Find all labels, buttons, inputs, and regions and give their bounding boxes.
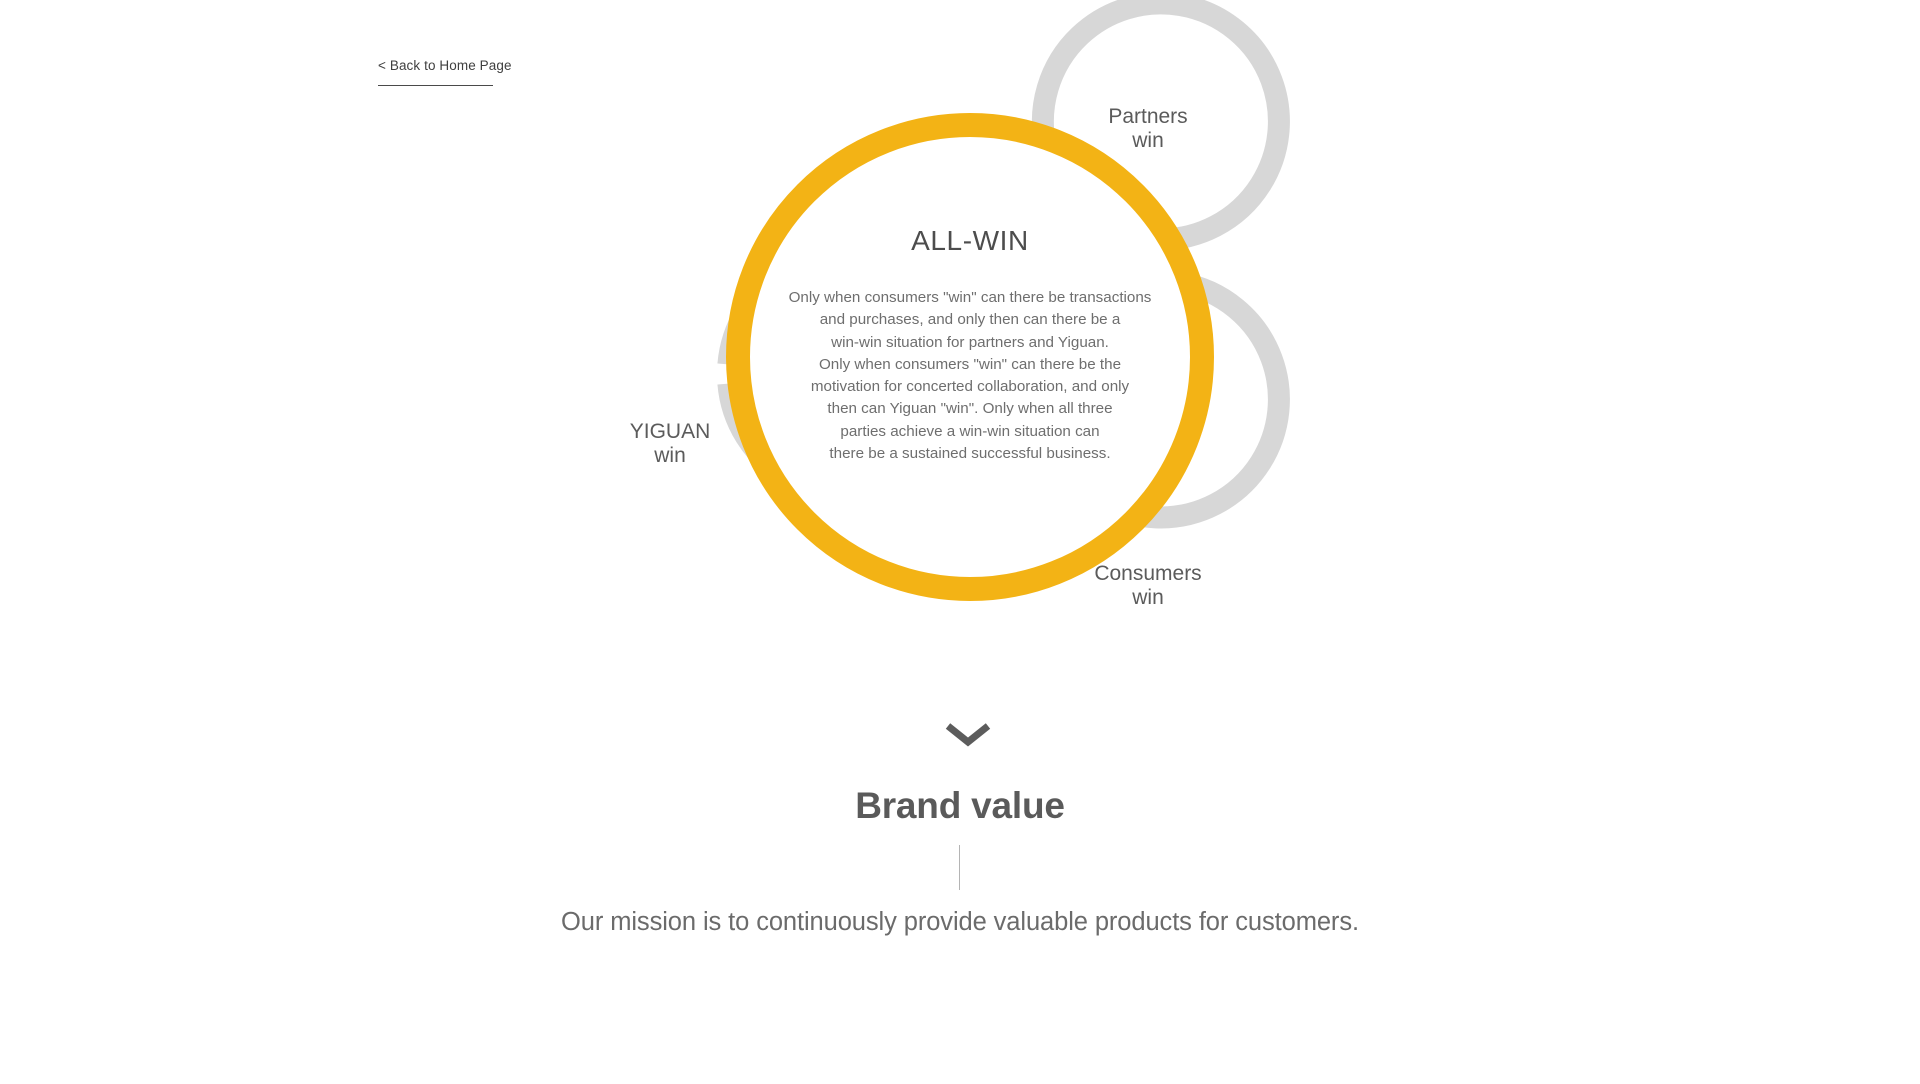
chevron-down-icon <box>942 718 994 750</box>
diagram-svg <box>0 0 1920 720</box>
section-divider <box>959 845 960 890</box>
center-allwin-ring <box>738 125 1202 589</box>
brand-value-heading: Brand value <box>0 785 1920 827</box>
all-win-diagram: Partners win YIGUAN win Consumers win AL… <box>0 0 1920 720</box>
page-root: < Back to Home Page Partners win YIGUAN … <box>0 0 1920 1084</box>
mission-statement: Our mission is to continuously provide v… <box>0 908 1920 937</box>
